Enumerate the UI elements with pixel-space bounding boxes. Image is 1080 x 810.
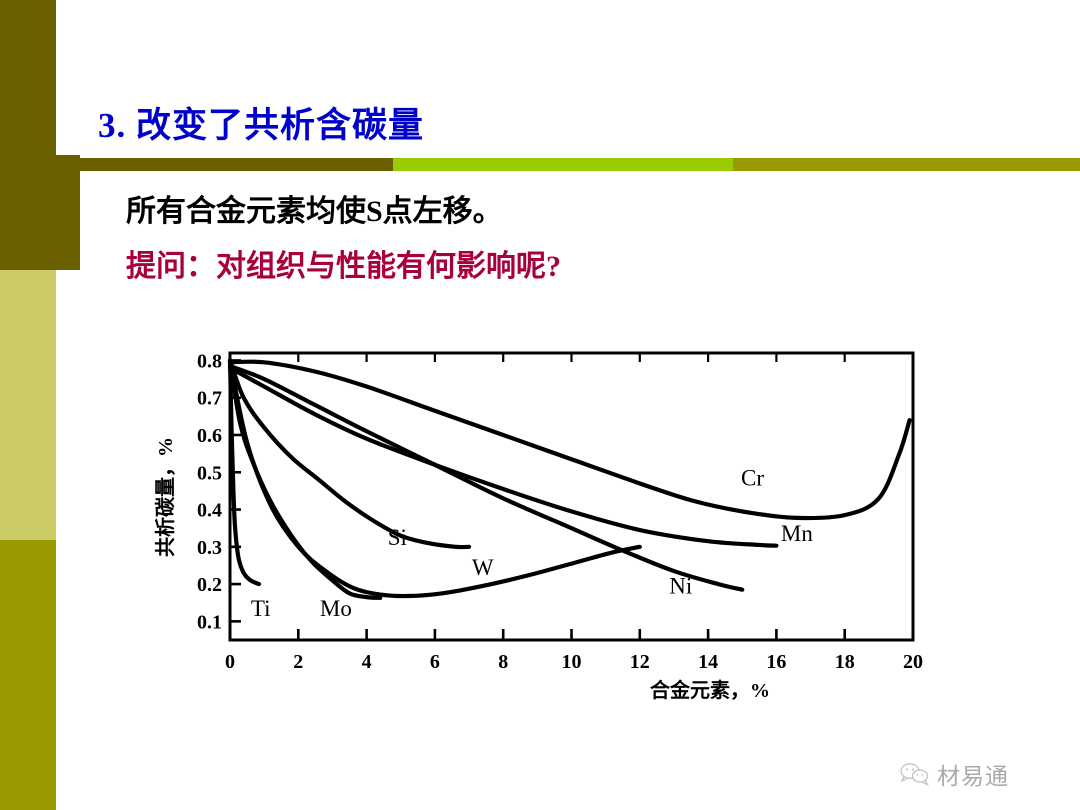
x-tick-label: 14 <box>698 651 718 673</box>
x-tick-label: 2 <box>293 651 303 673</box>
series-label-mn: Mn <box>781 521 813 546</box>
x-tick-label: 8 <box>498 651 508 673</box>
slide-canvas: 3. 改变了共析含碳量 所有合金元素均使S点左移。 提问：对组织与性能有何影响呢… <box>0 0 1080 810</box>
body-question: 提问：对组织与性能有何影响呢? <box>126 241 561 285</box>
divider-segment-middle <box>393 158 733 171</box>
y-tick-label: 0.4 <box>197 500 222 522</box>
body-statement: 所有合金元素均使S点左移。 <box>126 186 503 230</box>
y-tick-label: 0.5 <box>197 462 222 484</box>
y-axis-title: 共析碳量，% <box>153 437 177 557</box>
y-tick-label: 0.7 <box>197 388 222 410</box>
x-tick-label: 4 <box>362 651 372 673</box>
x-tick-label: 12 <box>630 651 650 673</box>
x-tick-label: 18 <box>835 651 855 673</box>
series-label-ti: Ti <box>251 596 271 621</box>
wechat-icon <box>900 762 930 786</box>
watermark: 材易通 <box>900 757 1009 791</box>
series-label-w: W <box>472 555 494 580</box>
x-tick-label: 20 <box>903 651 923 673</box>
series-label-mo: Mo <box>320 596 352 621</box>
x-axis-title: 合金元素，% <box>650 678 770 702</box>
y-tick-label: 0.3 <box>197 537 222 559</box>
divider-segment-right <box>733 158 1080 171</box>
sidebar-accent-tab <box>0 155 80 270</box>
y-tick-label: 0.6 <box>197 425 222 447</box>
eutectoid-carbon-chart: 0.10.20.30.40.50.60.70.8 024681012141618… <box>150 345 940 715</box>
series-label-ni: Ni <box>669 573 692 598</box>
chart-svg: 0.10.20.30.40.50.60.70.8 024681012141618… <box>150 345 940 715</box>
y-tick-label: 0.1 <box>197 611 222 633</box>
y-tick-label: 0.8 <box>197 350 222 372</box>
x-tick-label: 10 <box>562 651 582 673</box>
watermark-text: 材易通 <box>937 757 1009 791</box>
sidebar-block-middle <box>0 270 56 540</box>
series-label-cr: Cr <box>741 465 764 490</box>
divider-segment-left <box>56 158 393 171</box>
page-title: 3. 改变了共析含碳量 <box>98 97 424 148</box>
x-tick-label: 6 <box>430 651 440 673</box>
x-tick-label: 16 <box>766 651 786 673</box>
sidebar-block-bottom <box>0 540 56 810</box>
y-tick-label: 0.2 <box>197 574 222 596</box>
series-label-si: Si <box>388 525 407 550</box>
x-tick-label: 0 <box>225 651 235 673</box>
